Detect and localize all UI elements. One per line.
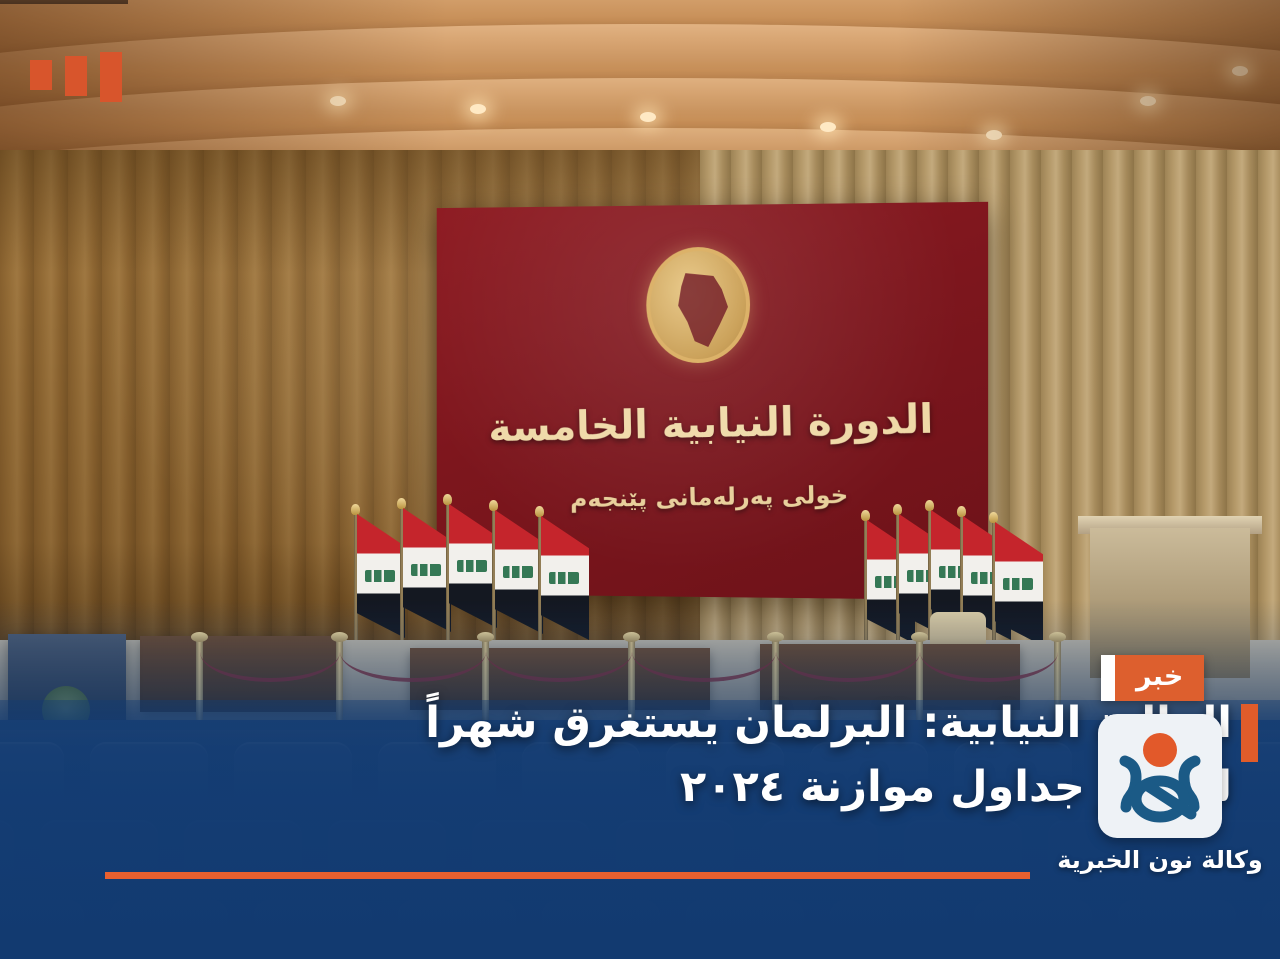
headline: المالية النيابية: البرلمان يستغرق شهراً …: [242, 694, 1232, 816]
headline-divider: [105, 872, 1030, 879]
headline-line-1: المالية النيابية: البرلمان يستغرق شهراً: [242, 694, 1232, 752]
agency-name: وكالة نون الخبرية: [1044, 846, 1276, 874]
podium-top: [0, 0, 128, 4]
corner-mark: [30, 60, 52, 90]
corner-mark: [100, 52, 122, 102]
banner-title: الدورة النيابية الخامسة: [436, 395, 988, 452]
noon-dot-icon: [1143, 733, 1177, 767]
agency-logo: [1098, 714, 1222, 838]
noon-logo-icon: [1098, 714, 1222, 838]
news-card: الدورة النيابية الخامسة خولی پەرلەمانی پ…: [0, 0, 1280, 959]
iraq-map-shape: [676, 273, 728, 347]
corner-marks: [30, 52, 122, 102]
headline-line-2: لتمرير جداول موازنة ٢٠٢٤: [242, 758, 1232, 816]
iraq-emblem-icon: [646, 247, 750, 364]
news-badge-tab: [1101, 655, 1115, 701]
headline-accent-bar: [1241, 704, 1258, 762]
news-badge: خبر: [1101, 655, 1204, 701]
news-badge-label: خبر: [1115, 655, 1204, 701]
corner-mark: [65, 56, 87, 96]
